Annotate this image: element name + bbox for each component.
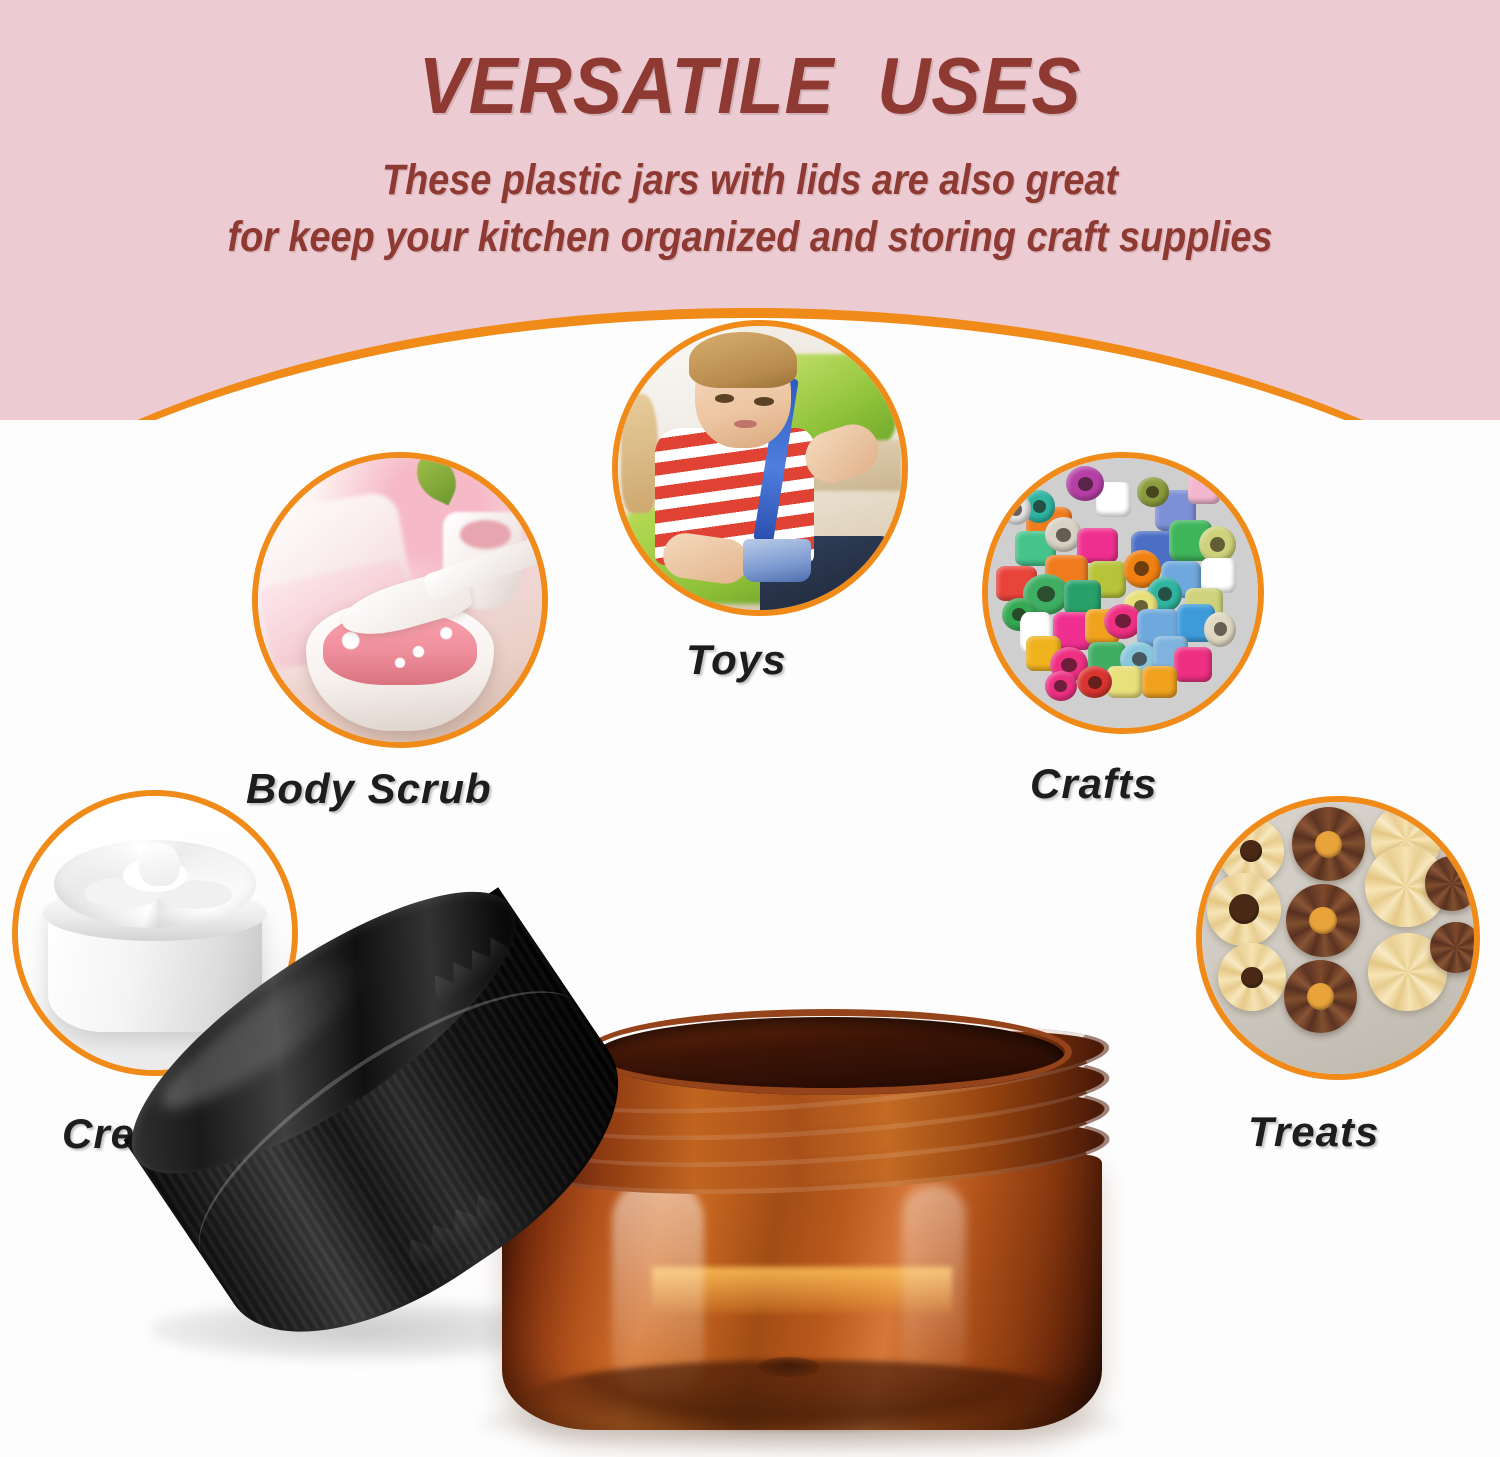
category-image-toys <box>612 320 908 616</box>
treat-cookie <box>1425 856 1479 910</box>
page-subtitle-line-2: for keep your kitchen organized and stor… <box>90 209 1410 266</box>
category-image-creams <box>12 790 298 1076</box>
category-image-crafts <box>982 452 1264 734</box>
craft-bead <box>1107 666 1142 698</box>
craft-bead <box>1142 666 1177 698</box>
category-label-crafts: Crafts <box>1030 760 1157 808</box>
craft-bead-hole <box>1056 528 1071 542</box>
category-label-treats: Treats <box>1248 1108 1379 1156</box>
jar-threaded-neck <box>530 1005 1110 1220</box>
toys-photo <box>618 326 902 610</box>
category-label-toys: Toys <box>686 636 786 684</box>
treat-cookie-center <box>1240 840 1262 862</box>
body-scrub-photo <box>258 458 542 742</box>
category-image-treats <box>1196 796 1480 1080</box>
page-subtitle: These plastic jars with lids are also gr… <box>90 152 1410 266</box>
craft-bead-hole <box>1146 486 1159 498</box>
craft-bead <box>1174 647 1212 682</box>
craft-bead-hole <box>1088 676 1102 689</box>
craft-bead-hole <box>1132 652 1147 666</box>
page-subtitle-line-1: These plastic jars with lids are also gr… <box>90 152 1410 209</box>
treats-photo <box>1202 802 1474 1074</box>
creams-photo <box>18 796 292 1070</box>
amber-jar <box>472 1005 1132 1435</box>
treat-cookie-center <box>1315 831 1342 858</box>
category-image-body-scrub <box>252 452 548 748</box>
craft-bead-hole <box>1078 477 1093 491</box>
page-title: VERSATILE USES <box>60 46 1440 126</box>
craft-bead-hole <box>1210 537 1225 552</box>
craft-bead-hole <box>1115 614 1130 628</box>
craft-bead-hole <box>1010 503 1022 516</box>
crafts-photo <box>988 458 1258 728</box>
treat-cookie-center <box>1309 907 1336 934</box>
category-label-creams: Creams <box>62 1110 222 1158</box>
craft-bead-hole <box>1033 500 1046 513</box>
treat-cookie-center <box>1307 983 1334 1010</box>
craft-bead <box>1188 474 1220 504</box>
craft-bead-hole <box>1061 658 1076 672</box>
treat-cookie <box>1430 922 1480 974</box>
infographic-root: VERSATILE USES These plastic jars with l… <box>0 0 1500 1457</box>
